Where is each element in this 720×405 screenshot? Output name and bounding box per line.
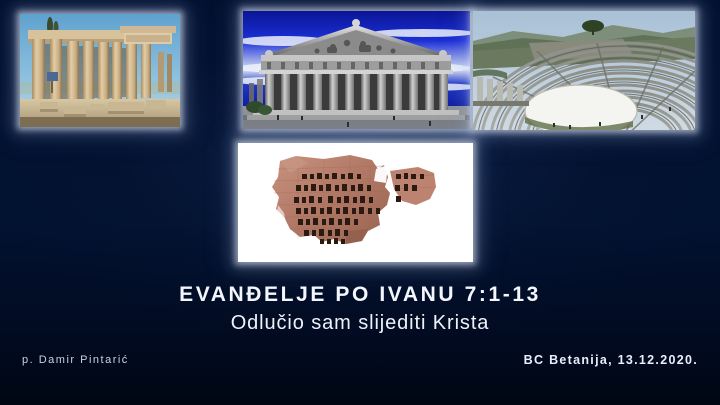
- ancient-ruins-colonnade-photo: [20, 14, 180, 127]
- presentation-slide: EVANĐELJE PO IVANU 7:1-13 Odlučio sam sl…: [0, 0, 720, 405]
- footer-venue-date: BC Betanija, 13.12.2020.: [524, 353, 698, 367]
- greek-temple-reconstruction-render: [243, 11, 470, 129]
- footer-speaker-name: p. Damir Pintarić: [22, 354, 129, 366]
- ruins-illustration: [20, 14, 180, 127]
- papyrus-fragment-photo: [238, 143, 473, 262]
- page-title: EVANĐELJE PO IVANU 7:1-13: [0, 283, 720, 307]
- papyrus-illustration: [238, 143, 473, 262]
- ancient-amphitheatre-photo: [473, 11, 695, 130]
- page-subtitle: Odlučio sam slijediti Krista: [0, 312, 720, 335]
- amphitheatre-illustration: [473, 11, 695, 130]
- temple-illustration: [243, 11, 470, 129]
